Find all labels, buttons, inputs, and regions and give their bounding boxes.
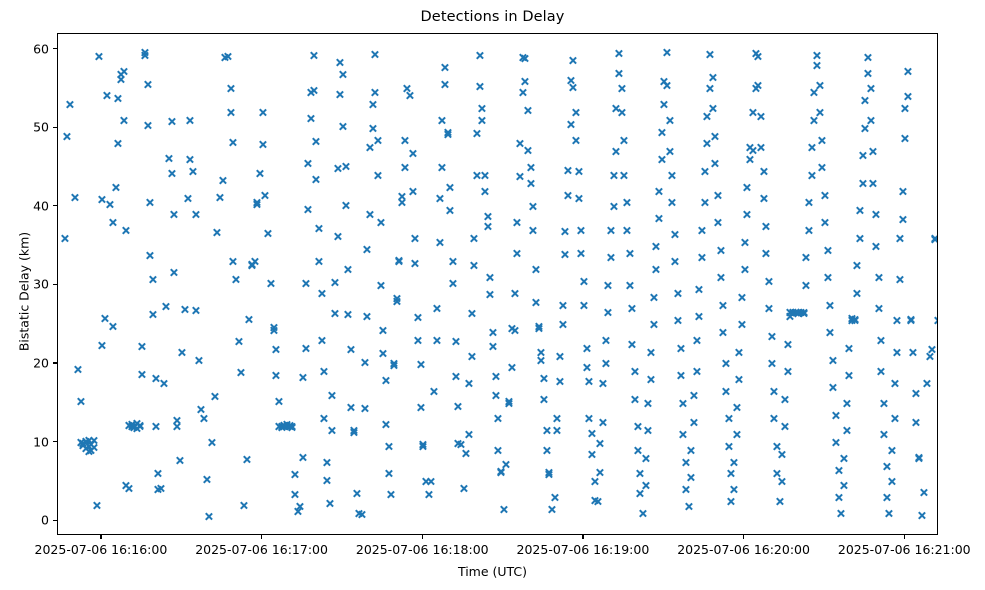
scatter-point <box>871 242 880 251</box>
scatter-point <box>622 226 631 235</box>
scatter-point <box>646 375 655 384</box>
scatter-point <box>494 414 503 423</box>
scatter-point <box>523 106 532 115</box>
scatter-point <box>462 449 471 458</box>
scatter-point <box>330 278 339 287</box>
scatter-point <box>472 171 481 180</box>
scatter-point <box>336 58 345 67</box>
scatter-point <box>371 88 380 97</box>
scatter-point <box>636 489 645 498</box>
scatter-point <box>719 301 728 310</box>
scatter-point <box>879 399 888 408</box>
scatter-point <box>708 104 717 113</box>
scatter-point <box>612 104 621 113</box>
scatter-point <box>124 484 133 493</box>
scatter-point <box>79 441 88 450</box>
scatter-point <box>641 454 650 463</box>
scatter-point <box>504 399 513 408</box>
scatter-point <box>488 328 497 337</box>
y-tick-mark <box>53 441 57 442</box>
scatter-point <box>770 387 779 396</box>
scatter-point <box>869 179 878 188</box>
scatter-point <box>828 356 837 365</box>
scatter-point <box>494 446 503 455</box>
scatter-point <box>563 191 572 200</box>
scatter-point <box>148 275 157 284</box>
scatter-point <box>79 439 88 448</box>
scatter-point <box>555 352 564 361</box>
scatter-point <box>496 468 505 477</box>
scatter-point <box>622 198 631 207</box>
scatter-point <box>154 485 163 494</box>
scatter-point <box>231 275 240 284</box>
scatter-point <box>304 159 313 168</box>
scatter-point <box>170 268 179 277</box>
y-tick-label: 40 <box>33 198 49 213</box>
x-tick-label: 2025-07-06 16:20:00 <box>677 542 810 557</box>
scatter-point <box>443 128 452 137</box>
scatter-point <box>711 132 720 141</box>
x-tick-mark <box>582 535 583 539</box>
scatter-point <box>729 485 738 494</box>
scatter-point <box>882 462 891 471</box>
scatter-point <box>705 50 714 59</box>
scatter-point <box>218 176 227 185</box>
scatter-point <box>561 227 570 236</box>
x-tick-mark <box>422 535 423 539</box>
scatter-point <box>119 67 128 76</box>
scatter-point <box>132 424 141 433</box>
scatter-point <box>103 91 112 100</box>
scatter-point <box>124 421 133 430</box>
scatter-point <box>794 308 803 317</box>
scatter-point <box>515 172 524 181</box>
scatter-point <box>336 90 345 99</box>
x-tick-mark <box>261 535 262 539</box>
scatter-point <box>255 169 264 178</box>
scatter-point <box>309 86 318 95</box>
scatter-point <box>424 490 433 499</box>
scatter-point <box>413 313 422 322</box>
scatter-point <box>539 395 548 404</box>
x-tick-label: 2025-07-06 16:21:00 <box>838 542 971 557</box>
scatter-point <box>111 183 120 192</box>
scatter-point <box>625 249 634 258</box>
scatter-point <box>914 453 923 462</box>
scatter-point <box>151 374 160 383</box>
scatter-point <box>440 80 449 89</box>
scatter-point <box>247 261 256 270</box>
scatter-point <box>443 130 452 139</box>
scatter-point <box>263 229 272 238</box>
scatter-point <box>384 469 393 478</box>
scatter-point <box>595 468 604 477</box>
scatter-point <box>593 497 602 506</box>
scatter-point <box>338 122 347 131</box>
scatter-point <box>767 332 776 341</box>
scatter-point <box>296 502 305 511</box>
scatter-point <box>863 53 872 62</box>
scatter-point <box>349 426 358 435</box>
scatter-point <box>847 316 856 325</box>
scatter-point <box>73 365 82 374</box>
scatter-point <box>786 312 795 321</box>
scatter-point <box>328 391 337 400</box>
scatter-point <box>135 421 144 430</box>
scatter-point <box>223 52 232 61</box>
scatter-point <box>397 198 406 207</box>
scatter-point <box>180 305 189 314</box>
scatter-point <box>756 112 765 121</box>
scatter-point <box>823 246 832 255</box>
scatter-point <box>633 422 642 431</box>
scatter-point <box>807 171 816 180</box>
scatter-point <box>197 405 206 414</box>
scatter-point <box>799 309 808 318</box>
scatter-point <box>826 328 835 337</box>
scatter-point <box>183 194 192 203</box>
scatter-point <box>146 198 155 207</box>
scatter-point <box>480 171 489 180</box>
scatter-point <box>521 54 530 63</box>
scatter-point <box>601 359 610 368</box>
scatter-point <box>411 234 420 243</box>
scatter-point <box>451 372 460 381</box>
scatter-point <box>732 430 741 439</box>
scatter-point <box>381 376 390 385</box>
y-tick-label: 60 <box>33 41 49 56</box>
y-tick-label: 50 <box>33 120 49 135</box>
scatter-point <box>598 418 607 427</box>
scatter-point <box>895 275 904 284</box>
scatter-point <box>887 446 896 455</box>
scatter-point <box>446 206 455 215</box>
scatter-point <box>148 310 157 319</box>
scatter-point <box>250 257 259 266</box>
scatter-point <box>579 277 588 286</box>
scatter-point <box>518 88 527 97</box>
scatter-point <box>660 100 669 109</box>
scatter-point <box>767 359 776 368</box>
scatter-point <box>628 340 637 349</box>
scatter-point <box>271 371 280 380</box>
scatter-point <box>657 128 666 137</box>
scatter-point <box>703 112 712 121</box>
scatter-point <box>408 149 417 158</box>
scatter-point <box>668 198 677 207</box>
scatter-point <box>537 356 546 365</box>
scatter-point <box>700 167 709 176</box>
scatter-point <box>210 392 219 401</box>
scatter-point <box>700 198 709 207</box>
scatter-point <box>762 222 771 231</box>
scatter-point <box>247 260 256 269</box>
scatter-point <box>689 391 698 400</box>
scatter-point <box>138 342 147 351</box>
scatter-point <box>850 316 859 325</box>
scatter-point <box>384 442 393 451</box>
scatter-point <box>818 163 827 172</box>
scatter-point <box>759 194 768 203</box>
scatter-point <box>620 171 629 180</box>
scatter-point <box>512 249 521 258</box>
scatter-point <box>507 363 516 372</box>
scatter-point <box>783 340 792 349</box>
scatter-point <box>392 294 401 303</box>
scatter-point <box>665 147 674 156</box>
scatter-point <box>770 414 779 423</box>
scatter-point <box>713 191 722 200</box>
scatter-point <box>363 245 372 254</box>
scatter-point <box>577 249 586 258</box>
scatter-point <box>320 367 329 376</box>
scatter-point <box>831 438 840 447</box>
scatter-point <box>314 224 323 233</box>
scatter-point <box>84 447 93 456</box>
scatter-point <box>545 468 554 477</box>
scatter-point <box>172 416 181 425</box>
scatter-point <box>344 310 353 319</box>
scatter-point <box>215 193 224 202</box>
scatter-point <box>368 100 377 109</box>
scatter-point <box>234 337 243 346</box>
scatter-point <box>89 436 98 445</box>
scatter-point <box>529 226 538 235</box>
x-tick-mark <box>743 535 744 539</box>
scatter-point <box>668 171 677 180</box>
scatter-point <box>529 202 538 211</box>
scatter-point <box>314 257 323 266</box>
scatter-point <box>740 265 749 274</box>
scatter-point <box>435 194 444 203</box>
scatter-point <box>429 387 438 396</box>
scatter-point <box>100 314 109 323</box>
scatter-point <box>906 316 915 325</box>
scatter-point <box>751 84 760 93</box>
scatter-point <box>847 314 856 323</box>
scatter-point <box>713 218 722 227</box>
scatter-point <box>845 371 854 380</box>
scatter-point <box>590 477 599 486</box>
scatter-point <box>205 512 214 521</box>
scatter-points-layer <box>58 34 937 534</box>
scatter-point <box>486 290 495 299</box>
scatter-point <box>569 56 578 65</box>
scatter-point <box>116 70 125 79</box>
scatter-point <box>887 477 896 486</box>
scatter-point <box>226 108 235 117</box>
scatter-point <box>392 297 401 306</box>
scatter-point <box>164 154 173 163</box>
scatter-point <box>547 505 556 514</box>
scatter-point <box>467 352 476 361</box>
scatter-point <box>470 261 479 270</box>
scatter-point <box>97 195 106 204</box>
scatter-point <box>689 418 698 427</box>
scatter-point <box>903 67 912 76</box>
scatter-point <box>558 320 567 329</box>
scatter-point <box>917 511 926 520</box>
scatter-point <box>515 139 524 148</box>
scatter-point <box>858 179 867 188</box>
y-tick-mark <box>53 127 57 128</box>
scatter-point <box>432 336 441 345</box>
scatter-point <box>446 183 455 192</box>
scatter-point <box>737 320 746 329</box>
scatter-point <box>400 136 409 145</box>
scatter-point <box>76 438 85 447</box>
scatter-point <box>727 469 736 478</box>
scatter-point <box>818 136 827 145</box>
scatter-point <box>237 368 246 377</box>
scatter-point <box>207 438 216 447</box>
scatter-point <box>842 399 851 408</box>
scatter-point <box>127 420 136 429</box>
scatter-point <box>84 442 93 451</box>
scatter-point <box>737 293 746 302</box>
scatter-point <box>379 326 388 335</box>
scatter-point <box>143 121 152 130</box>
scatter-point <box>628 304 637 313</box>
scatter-point <box>794 309 803 318</box>
scatter-point <box>105 200 114 209</box>
scatter-point <box>561 250 570 259</box>
scatter-point <box>933 316 938 325</box>
scatter-point <box>654 214 663 223</box>
y-tick-mark <box>53 362 57 363</box>
scatter-point <box>317 336 326 345</box>
scatter-point <box>780 395 789 404</box>
scatter-point <box>440 63 449 72</box>
scatter-point <box>574 167 583 176</box>
scatter-point <box>285 421 294 430</box>
scatter-point <box>395 257 404 266</box>
scatter-point <box>778 450 787 459</box>
scatter-point <box>582 344 591 353</box>
scatter-point <box>901 104 910 113</box>
scatter-point <box>478 116 487 125</box>
scatter-point <box>853 289 862 298</box>
scatter-point <box>258 140 267 149</box>
scatter-point <box>328 426 337 435</box>
scatter-point <box>566 120 575 129</box>
scatter-point <box>692 367 701 376</box>
scatter-point <box>146 251 155 260</box>
scatter-point <box>914 454 923 463</box>
scatter-point <box>657 155 666 164</box>
scatter-point <box>595 439 604 448</box>
scatter-point <box>558 301 567 310</box>
scatter-point <box>467 309 476 318</box>
scatter-point <box>454 439 463 448</box>
scatter-point <box>882 493 891 502</box>
scatter-point <box>167 117 176 126</box>
scatter-point <box>644 399 653 408</box>
scatter-point <box>502 460 511 469</box>
scatter-point <box>381 420 390 429</box>
scatter-point <box>874 273 883 282</box>
scatter-point <box>753 81 762 90</box>
scatter-point <box>601 336 610 345</box>
scatter-point <box>344 265 353 274</box>
scatter-point <box>828 383 837 392</box>
scatter-point <box>309 51 318 60</box>
scatter-point <box>756 143 765 152</box>
scatter-point <box>716 246 725 255</box>
scatter-point <box>282 420 291 429</box>
chart-title: Detections in Delay <box>0 9 985 25</box>
scatter-point <box>705 84 714 93</box>
scatter-point <box>282 422 291 431</box>
scatter-point <box>542 446 551 455</box>
scatter-point <box>799 308 808 317</box>
scatter-point <box>499 505 508 514</box>
scatter-point <box>373 136 382 145</box>
scatter-point <box>132 419 141 428</box>
x-tick-label: 2025-07-06 16:18:00 <box>356 542 489 557</box>
scatter-point <box>512 218 521 227</box>
scatter-point <box>903 92 912 101</box>
scatter-point <box>387 490 396 499</box>
scatter-point <box>472 129 481 138</box>
scatter-point <box>226 84 235 93</box>
scatter-point <box>491 372 500 381</box>
scatter-point <box>791 308 800 317</box>
scatter-point <box>590 496 599 505</box>
scatter-point <box>786 308 795 317</box>
scatter-point <box>140 48 149 57</box>
scatter-point <box>727 497 736 506</box>
plot-area <box>57 33 938 535</box>
x-axis-label: Time (UTC) <box>0 564 985 579</box>
scatter-point <box>695 285 704 294</box>
scatter-point <box>606 253 615 262</box>
scatter-point <box>839 481 848 490</box>
scatter-point <box>475 51 484 60</box>
scatter-point <box>510 289 519 298</box>
scatter-point <box>630 395 639 404</box>
scatter-point <box>673 289 682 298</box>
scatter-point <box>483 212 492 221</box>
scatter-point <box>871 210 880 219</box>
scatter-point <box>893 348 902 357</box>
scatter-point <box>863 69 872 78</box>
scatter-point <box>922 379 931 388</box>
scatter-point <box>834 466 843 475</box>
scatter-point <box>130 423 139 432</box>
scatter-point <box>298 453 307 462</box>
scatter-point <box>239 501 248 510</box>
scatter-point <box>614 49 623 58</box>
scatter-point <box>411 259 420 268</box>
scatter-point <box>242 455 251 464</box>
scatter-point <box>930 235 938 244</box>
scatter-point <box>681 458 690 467</box>
scatter-point <box>478 104 487 113</box>
scatter-point <box>802 281 811 290</box>
scatter-point <box>266 279 275 288</box>
scatter-point <box>172 422 181 431</box>
scatter-point <box>288 423 297 432</box>
scatter-point <box>507 324 516 333</box>
scatter-point <box>587 450 596 459</box>
scatter-point <box>812 61 821 70</box>
scatter-point <box>566 76 575 85</box>
scatter-point <box>229 257 238 266</box>
scatter-point <box>604 281 613 290</box>
scatter-point <box>877 336 886 345</box>
scatter-point <box>269 326 278 335</box>
